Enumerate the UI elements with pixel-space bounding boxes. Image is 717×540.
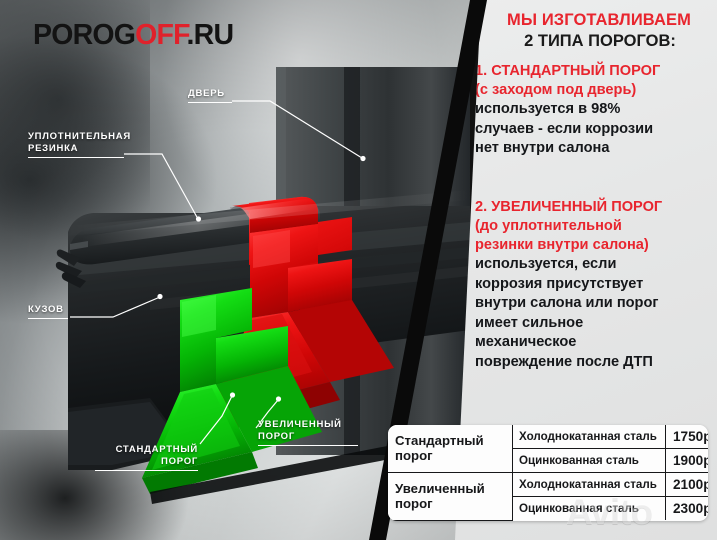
block2-body-line4: имеет сильное [475, 314, 715, 334]
callout-underline [95, 470, 198, 471]
block2-body-line2: коррозия присутствует [475, 275, 715, 295]
callout-body: КУЗОВ [28, 304, 68, 319]
price-value: 2300р. [666, 497, 709, 521]
block2-subtitle-line2: резинки внутри салона) [475, 236, 715, 255]
block2-body-line1: используется, если [475, 255, 715, 275]
poster-canvas: POROGOFF.RU ДВЕРЬ УПЛОТНИТЕЛЬНАЯРЕЗИНКА … [0, 0, 717, 540]
callout-enlarged-line2: ПОРОГ [258, 431, 295, 442]
block1-subtitle: (с заходом под дверь) [475, 81, 715, 100]
block2-body-line5: механическое [475, 333, 715, 353]
callout-underline [28, 318, 68, 319]
callout-door-text: ДВЕРЬ [188, 88, 225, 99]
logo-part-off: OFF [135, 19, 186, 51]
price-value: 1900р. [666, 449, 709, 473]
logo-part-ru: .RU [187, 19, 234, 51]
price-material: Холоднокатанная сталь [513, 473, 666, 497]
callout-underline [188, 102, 232, 103]
price-table-card: Стандартный порог Холоднокатанная сталь … [388, 425, 708, 521]
block1-body-line2: случаев - если коррозии [475, 120, 715, 140]
sill-type-block-standard: 1. СТАНДАРТНЫЙ ПОРОГ (с заходом под двер… [473, 62, 717, 159]
block1-title: 1. СТАНДАРТНЫЙ ПОРОГ [475, 62, 715, 81]
block2-title: 2. УВЕЛИЧЕННЫЙ ПОРОГ [475, 198, 715, 217]
table-row: Увеличенный порог Холоднокатанная сталь … [388, 473, 708, 497]
callout-underline [258, 445, 358, 446]
callout-door: ДВЕРЬ [188, 88, 232, 103]
callout-standard-sill: СТАНДАРТНЫЙПОРОГ [95, 444, 198, 471]
callout-enlarged-line1: УВЕЛИЧЕННЫЙ [258, 419, 342, 430]
block1-body-line1: используется в 98% [475, 100, 715, 120]
price-value: 1750р. [666, 425, 709, 449]
callout-rubber-seal: УПЛОТНИТЕЛЬНАЯРЕЗИНКА [28, 131, 131, 158]
callout-rubber-line1: УПЛОТНИТЕЛЬНАЯ [28, 131, 131, 142]
block2-body-line6: повреждение после ДТП [475, 353, 715, 373]
block2-subtitle-line1: (до уплотнительной [475, 217, 715, 236]
price-material: Оцинкованная сталь [513, 497, 666, 521]
panel-heading-line1: МЫ ИЗГОТАВЛИВАЕМ [473, 0, 717, 29]
block2-body-line3: внутри салона или порог [475, 294, 715, 314]
price-group-enlarged: Увеличенный порог [388, 473, 513, 521]
callout-enlarged-sill: УВЕЛИЧЕННЫЙПОРОГ [258, 419, 358, 446]
callout-standard-line1: СТАНДАРТНЫЙ [116, 444, 198, 455]
sill-type-block-enlarged: 2. УВЕЛИЧЕННЫЙ ПОРОГ (до уплотнительной … [473, 198, 717, 372]
panel-heading-line2: 2 ТИПА ПОРОГОВ: [473, 29, 717, 50]
price-material: Холоднокатанная сталь [513, 425, 666, 449]
callout-rubber-line2: РЕЗИНКА [28, 143, 78, 154]
logo-part-porog: POROG [33, 19, 135, 51]
block1-body-line3: нет внутри салона [475, 139, 715, 159]
brand-logo: POROGOFF.RU [33, 20, 233, 50]
price-material: Оцинкованная сталь [513, 449, 666, 473]
price-value: 2100р. [666, 473, 709, 497]
price-table: Стандартный порог Холоднокатанная сталь … [388, 425, 708, 521]
callout-standard-line2: ПОРОГ [161, 456, 198, 467]
callout-body-text: КУЗОВ [28, 304, 64, 315]
table-row: Стандартный порог Холоднокатанная сталь … [388, 425, 708, 449]
callout-underline [28, 157, 124, 158]
price-group-standard: Стандартный порог [388, 425, 513, 473]
